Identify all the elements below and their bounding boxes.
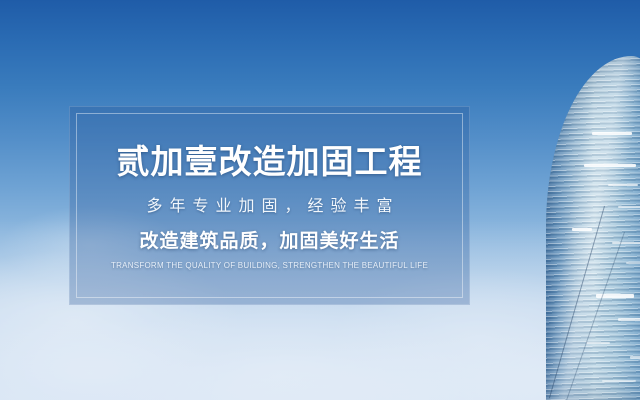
headline-panel: 贰加壹改造加固工程 多年专业加固，经验丰富 改造建筑品质，加固美好生活 TRAN… — [69, 106, 470, 305]
cloud-wisp — [120, 348, 420, 400]
tagline-english: TRANSFORM THE QUALITY OF BUILDING, STREN… — [111, 262, 428, 270]
cloud-wisp — [0, 318, 220, 400]
window-reflection — [592, 132, 632, 135]
subtitle-line-1: 多年专业加固，经验丰富 — [139, 199, 399, 215]
window-reflection — [618, 318, 640, 321]
window-reflection — [612, 242, 640, 244]
window-reflection — [584, 164, 636, 167]
skyscraper-image — [546, 56, 640, 400]
window-reflection — [602, 380, 636, 382]
subtitle-line-2: 改造建筑品质，加固美好生活 — [139, 232, 399, 251]
window-reflection — [626, 262, 640, 264]
page-title: 贰加壹改造加固工程 — [117, 145, 423, 178]
hero-banner: 贰加壹改造加固工程 多年专业加固，经验丰富 改造建筑品质，加固美好生活 TRAN… — [0, 0, 640, 400]
panel-text-stack: 贰加壹改造加固工程 多年专业加固，经验丰富 改造建筑品质，加固美好生活 TRAN… — [69, 106, 470, 305]
window-reflection — [608, 184, 638, 186]
window-reflection — [630, 356, 640, 359]
window-reflection — [586, 342, 610, 344]
cloud-wisp — [90, 300, 470, 400]
tower-glass-sheen — [546, 56, 640, 400]
window-reflection — [572, 228, 592, 231]
window-reflection — [618, 206, 640, 208]
